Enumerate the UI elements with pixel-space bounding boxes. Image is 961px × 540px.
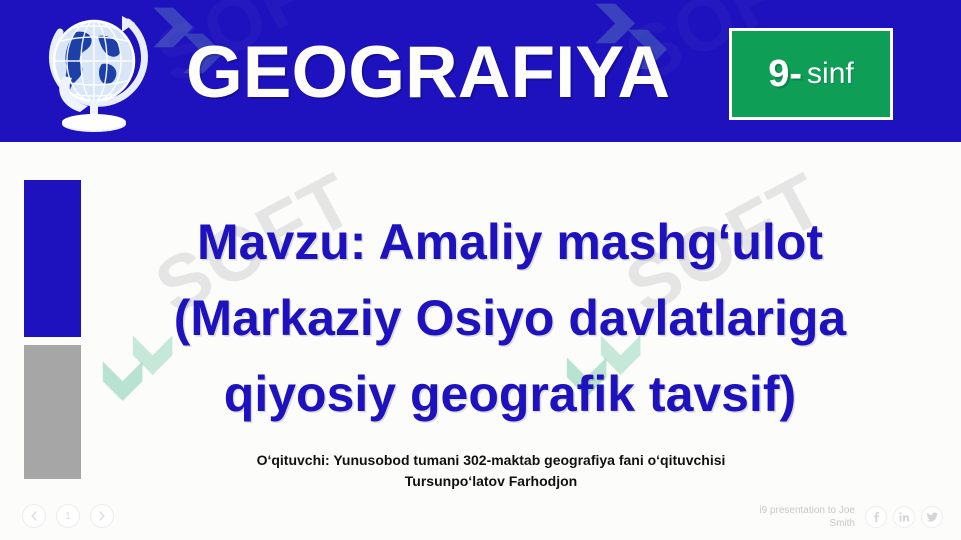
slide-header: SOFT SOFT bbox=[0, 0, 961, 142]
page-title: GEOGRAFIYA bbox=[186, 36, 670, 109]
credit-line: O‘qituvchi: Yunusobod tumani 302-maktab … bbox=[96, 450, 886, 471]
globe-icon bbox=[36, 6, 158, 138]
title-line: Mavzu: Amaliy mashg‘ulot bbox=[96, 204, 924, 280]
grade-suffix: sinf bbox=[807, 57, 854, 91]
prev-slide-button[interactable] bbox=[22, 504, 46, 528]
footer-branding: i9 presentation to Joe Smith bbox=[745, 504, 943, 530]
facebook-icon[interactable] bbox=[865, 506, 887, 528]
title-line: qiyosiy geografik tavsif) bbox=[96, 356, 924, 432]
next-slide-button[interactable] bbox=[90, 504, 114, 528]
slide-navigation: 1 bbox=[22, 504, 114, 528]
slide-main-title: Mavzu: Amaliy mashg‘ulot (Markaziy Osiyo… bbox=[96, 204, 924, 432]
chevron-right-icon bbox=[98, 511, 106, 521]
credit-line: Tursunpo‘latov Farhodjon bbox=[96, 471, 886, 492]
presentation-slide: SOFT SOFT SOFT SOFT SOFT SOFT bbox=[0, 0, 961, 540]
title-line: (Markaziy Osiyo davlatlariga bbox=[96, 280, 924, 356]
accent-bar-gray bbox=[24, 345, 81, 479]
chevron-left-icon bbox=[30, 511, 38, 521]
brand-label: i9 presentation to Joe Smith bbox=[745, 504, 855, 530]
grade-number: 9- bbox=[768, 53, 802, 96]
grade-badge: 9- sinf bbox=[729, 28, 893, 120]
social-links bbox=[865, 506, 943, 528]
page-indicator[interactable]: 1 bbox=[56, 504, 80, 528]
twitter-icon[interactable] bbox=[921, 506, 943, 528]
accent-bar-blue bbox=[24, 180, 81, 337]
teacher-credit: O‘qituvchi: Yunusobod tumani 302-maktab … bbox=[96, 450, 886, 492]
linkedin-icon[interactable] bbox=[893, 506, 915, 528]
